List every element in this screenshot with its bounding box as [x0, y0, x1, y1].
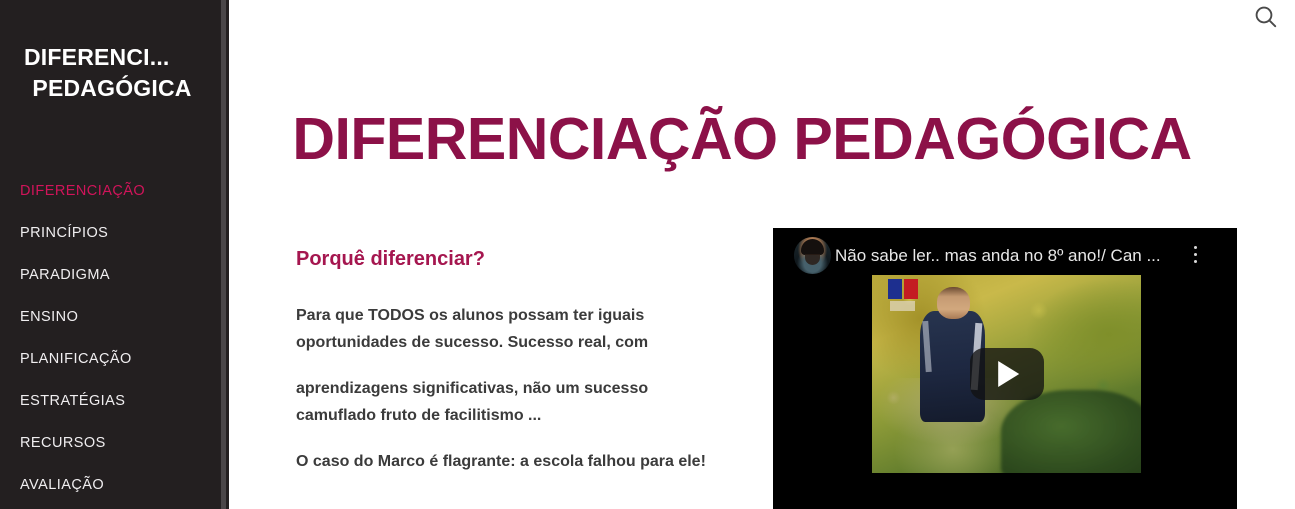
sidebar-item-principios[interactable]: PRINCÍPIOS: [0, 220, 221, 262]
site-title: DIFERENCI... PEDAGÓGICA: [24, 42, 204, 104]
channel-avatar-icon[interactable]: [794, 237, 831, 274]
more-options-icon[interactable]: [1186, 246, 1204, 266]
site-title-line-2: PEDAGÓGICA: [24, 73, 204, 104]
sidebar-nav: DIFERENCIAÇÃO PRINCÍPIOS PARADIGMA ENSIN…: [0, 178, 221, 509]
sidebar: DIFERENCI... PEDAGÓGICA DIFERENCIAÇÃO PR…: [0, 0, 221, 509]
body-paragraph-1: Para que TODOS os alunos possam ter igua…: [296, 302, 726, 356]
thumbnail-bush: [1001, 390, 1141, 473]
sidebar-item-ensino[interactable]: ENSINO: [0, 304, 221, 346]
sidebar-item-estrategias[interactable]: ESTRATÉGIAS: [0, 388, 221, 430]
sidebar-item-diferenciacao[interactable]: DIFERENCIAÇÃO: [0, 178, 221, 220]
main-content: DIFERENCIAÇÃO PEDAGÓGICA Porquê diferenc…: [229, 0, 1295, 509]
sidebar-item-planificacao[interactable]: PLANIFICAÇÃO: [0, 346, 221, 388]
page-title: DIFERENCIAÇÃO PEDAGÓGICA: [229, 104, 1295, 174]
video-thumbnail[interactable]: [872, 275, 1141, 473]
text-column: Porquê diferenciar? Para que TODOS os al…: [296, 246, 726, 494]
search-icon[interactable]: [1251, 2, 1281, 32]
section-heading: Porquê diferenciar?: [296, 246, 726, 272]
body-paragraph-2: aprendizagens significativas, não um suc…: [296, 375, 726, 429]
site-title-line-1: DIFERENCI...: [24, 42, 204, 73]
sidebar-item-avaliacao[interactable]: AVALIAÇÃO: [0, 472, 221, 509]
sidebar-item-recursos[interactable]: RECURSOS: [0, 430, 221, 472]
youtube-video-embed[interactable]: Não sabe ler.. mas anda no 8º ano!/ Can …: [773, 228, 1237, 509]
sidebar-item-paradigma[interactable]: PARADIGMA: [0, 262, 221, 304]
broadcaster-logo-icon: [888, 279, 918, 311]
thumbnail-person-head: [937, 287, 971, 319]
body-paragraph-3: O caso do Marco é flagrante: a escola fa…: [296, 448, 726, 475]
play-button-icon[interactable]: [970, 348, 1044, 400]
